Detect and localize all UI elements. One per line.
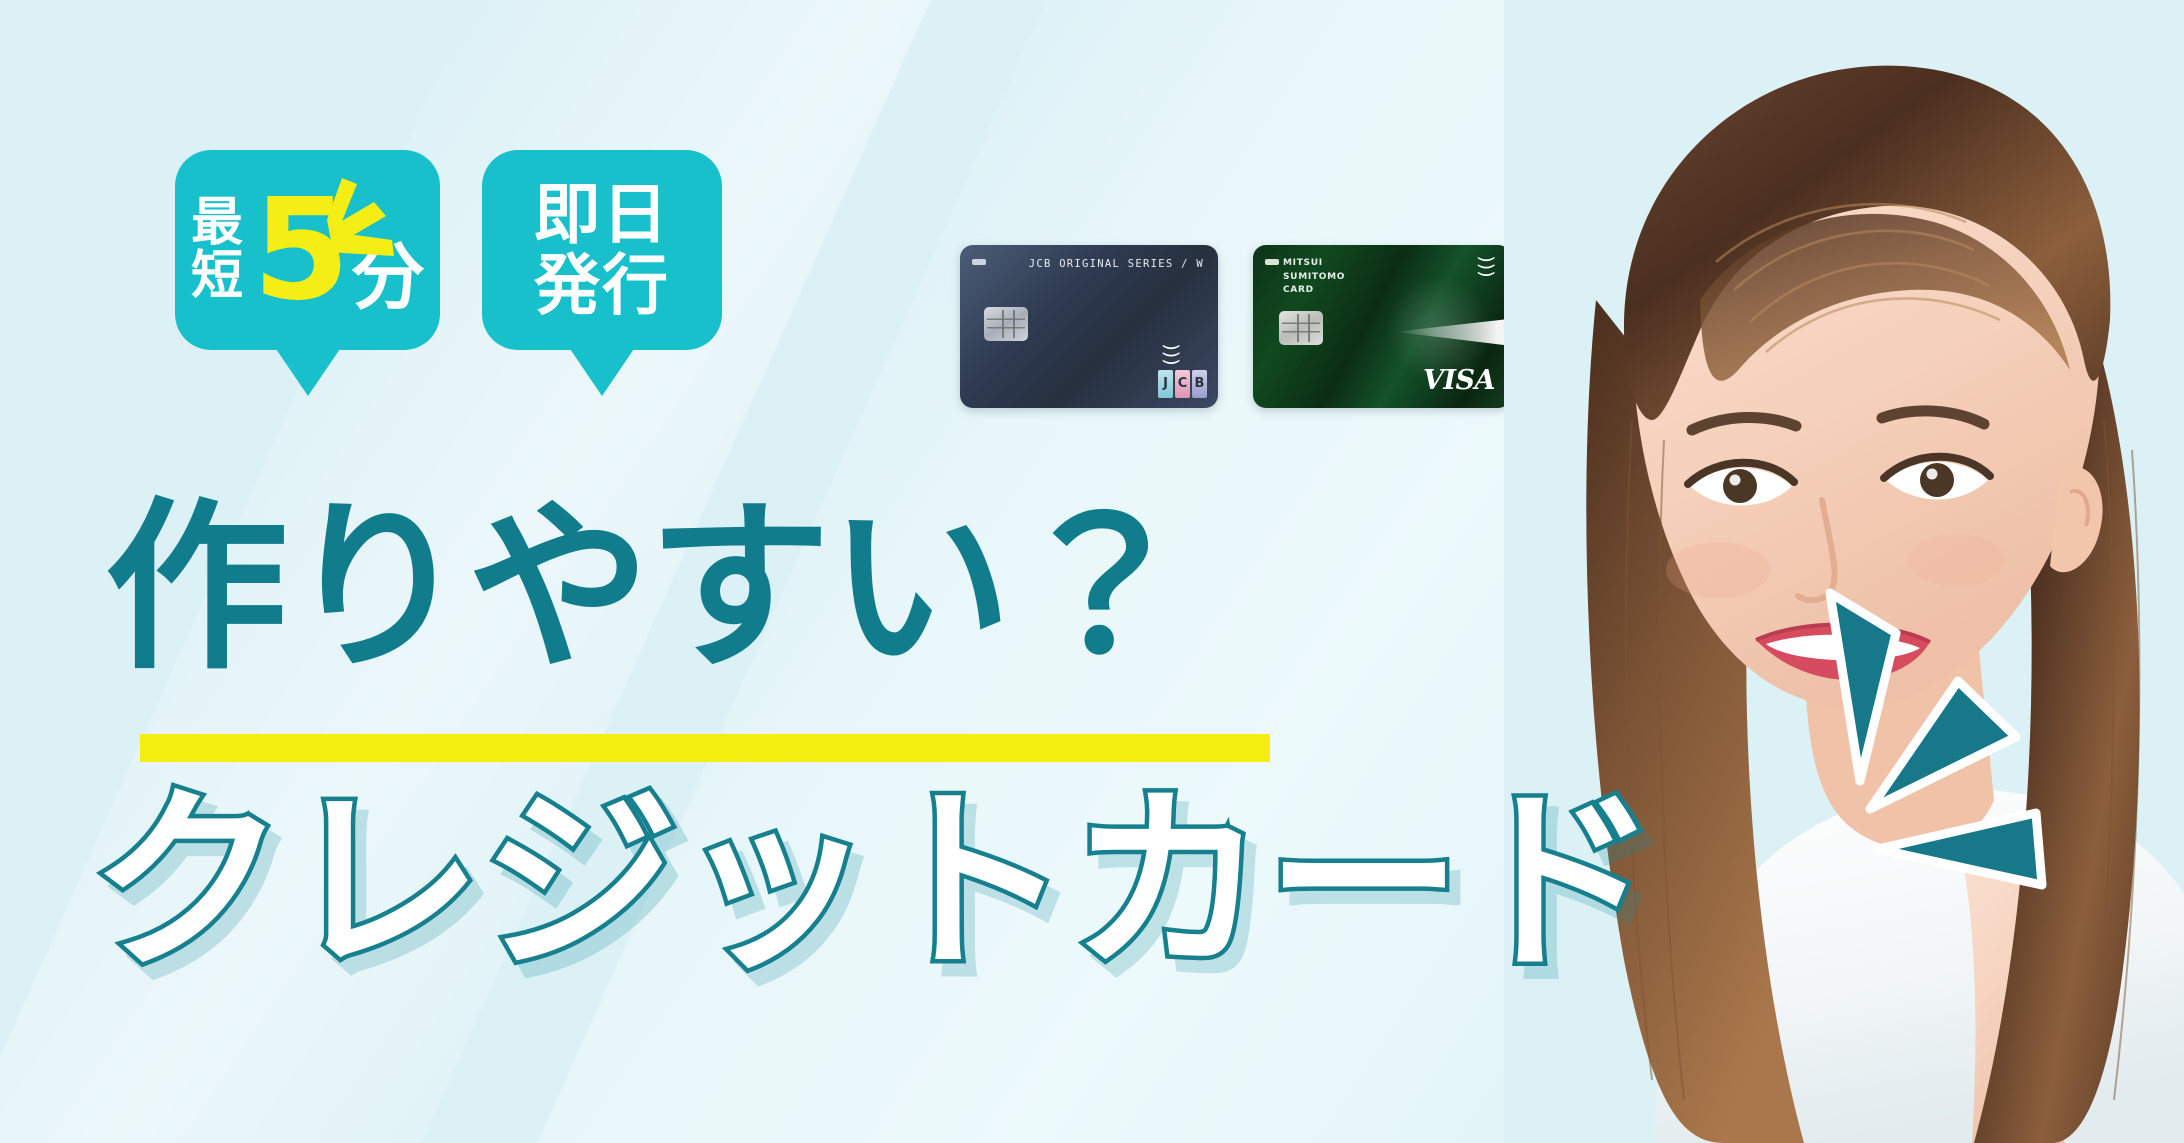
badge-same-day-issue: 即日 発行 [482, 150, 722, 350]
card-mitsui-sumitomo: MITSUI SUMITOMO CARD ))) VISA [1253, 245, 1511, 408]
badge-line-2: 発行 [534, 250, 670, 321]
card-brand-line: JCB ORIGINAL SERIES / W [1029, 258, 1204, 270]
card-jcb-original-series-w: JCB ORIGINAL SERIES / W ))) J C B [960, 245, 1218, 408]
starburst-rays-icon [1774, 585, 2074, 915]
badge-group: 最短 5 分 即日 発行 [175, 150, 722, 350]
contactless-wave-icon: ))) [1161, 343, 1180, 365]
contactless-wave-icon: ))) [1476, 255, 1495, 277]
badge-fastest-5-min: 最短 5 分 [175, 150, 440, 350]
sparkle-icon [308, 172, 418, 282]
issuer-line-2: SUMITOMO [1283, 272, 1345, 282]
headline-line-1: 作りやすい？ [105, 497, 1191, 680]
headline-line-2: クレジットカード [90, 785, 1658, 981]
card-issuer-name: MITSUI SUMITOMO CARD [1283, 257, 1345, 298]
emv-chip-icon [1279, 311, 1323, 345]
card-sheen-decoration [1395, 318, 1511, 346]
card-tab-icon [1265, 259, 1279, 265]
emv-chip-icon [984, 307, 1028, 341]
jcb-logo: J C B [1158, 370, 1207, 398]
visa-logo: VISA [1423, 365, 1495, 396]
credit-card-banner: 最短 5 分 即日 発行 JCB ORIGINAL SERIES / W [0, 0, 2184, 1143]
headline-underline [140, 734, 1270, 762]
jcb-logo-letter-j: J [1158, 370, 1173, 398]
jcb-logo-letter-c: C [1175, 370, 1190, 398]
badge-prefix-label: 最短 [191, 197, 247, 303]
badge-line-1: 即日 [534, 179, 670, 250]
card-tab-icon [972, 259, 986, 265]
jcb-logo-letter-b: B [1192, 370, 1207, 398]
issuer-line-3: CARD [1283, 285, 1314, 295]
credit-card-images: JCB ORIGINAL SERIES / W ))) J C B MITSUI… [960, 245, 1511, 408]
issuer-line-1: MITSUI [1283, 258, 1323, 268]
